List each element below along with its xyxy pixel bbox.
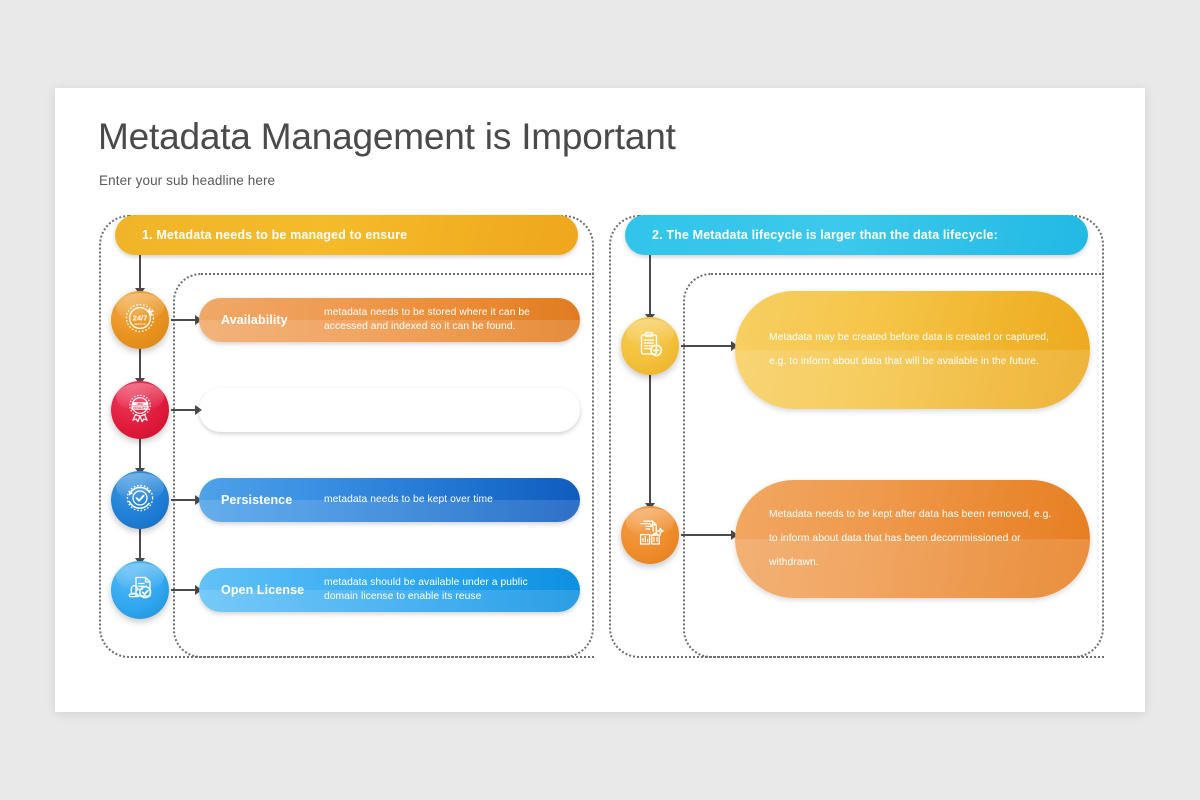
arrow-line-open-license — [171, 589, 197, 591]
page-title: Metadata Management is Important — [98, 116, 676, 158]
left-column-header[interactable]: 1. Metadata needs to be managed to ensur… — [115, 215, 578, 255]
document-stamp-icon — [122, 570, 158, 611]
bar-description-open-license: metadata should be available under a pub… — [324, 568, 564, 612]
left-column: 1. Metadata needs to be managed to ensur… — [99, 215, 594, 658]
right-column: 2. The Metadata lifecycle is larger than… — [609, 215, 1104, 658]
bar-label-persistence: Persistence — [221, 478, 292, 522]
content-bar-quality[interactable]: Quality metadata needs to be of consiste… — [199, 388, 580, 432]
icon-circle-metadata-kept[interactable] — [621, 506, 679, 564]
bar-label-quality: Quality — [221, 388, 264, 432]
arrow-line-persistence — [171, 499, 197, 501]
arrow-line-availability — [171, 319, 197, 321]
icon-circle-quality[interactable]: HIGH QUALITY — [111, 381, 169, 439]
connector-right-0 — [649, 255, 651, 317]
check-refresh-icon — [122, 480, 158, 521]
connector-left-1 — [139, 349, 141, 381]
document-chart-trash-icon — [632, 515, 668, 556]
high-quality-badge-icon: HIGH QUALITY — [122, 390, 158, 431]
arrow-line-quality — [171, 409, 197, 411]
right-column-header-label: 2. The Metadata lifecycle is larger than… — [652, 228, 998, 242]
connector-left-3 — [139, 529, 141, 561]
connector-left-2 — [139, 439, 141, 471]
bar-description-quality: metadata needs to be of consistent quali… — [324, 388, 564, 432]
svg-text:SERVICE: SERVICE — [134, 322, 146, 326]
icon-circle-metadata-created[interactable] — [621, 317, 679, 375]
bar-label-open-license: Open License — [221, 568, 304, 612]
lifecycle-card-2-text: Metadata needs to be kept after data has… — [735, 480, 1090, 598]
left-column-header-label: 1. Metadata needs to be managed to ensur… — [142, 228, 407, 242]
bar-description-availability: metadata needs to be stored where it can… — [324, 298, 564, 342]
connector-left-0 — [139, 255, 141, 291]
icon-circle-persistence[interactable] — [111, 471, 169, 529]
icon-circle-availability[interactable]: 24/7 SERVICE — [111, 291, 169, 349]
connector-right-1 — [649, 375, 651, 506]
bar-description-persistence: metadata needs to be kept over time — [324, 478, 564, 522]
content-bar-persistence[interactable]: Persistence metadata needs to be kept ov… — [199, 478, 580, 522]
svg-text:24/7: 24/7 — [133, 313, 148, 322]
content-bar-open-license[interactable]: Open License metadata should be availabl… — [199, 568, 580, 612]
page-subtitle: Enter your sub headline here — [99, 173, 275, 188]
arrow-line-card-1 — [681, 345, 733, 347]
lifecycle-card-metadata-kept[interactable]: Metadata needs to be kept after data has… — [735, 480, 1090, 598]
lifecycle-card-1-text: Metadata may be created before data is c… — [735, 291, 1090, 409]
icon-circle-open-license[interactable] — [111, 561, 169, 619]
right-column-header[interactable]: 2. The Metadata lifecycle is larger than… — [625, 215, 1088, 255]
bar-label-availability: Availability — [221, 298, 288, 342]
clipboard-plus-icon — [632, 326, 668, 367]
arrow-line-card-2 — [681, 534, 733, 536]
content-bar-availability[interactable]: Availability metadata needs to be stored… — [199, 298, 580, 342]
lifecycle-card-metadata-created[interactable]: Metadata may be created before data is c… — [735, 291, 1090, 409]
slide-canvas: Metadata Management is Important Enter y… — [55, 88, 1145, 712]
clock-24-7-icon: 24/7 SERVICE — [122, 300, 158, 341]
svg-text:QUALITY: QUALITY — [133, 406, 148, 410]
